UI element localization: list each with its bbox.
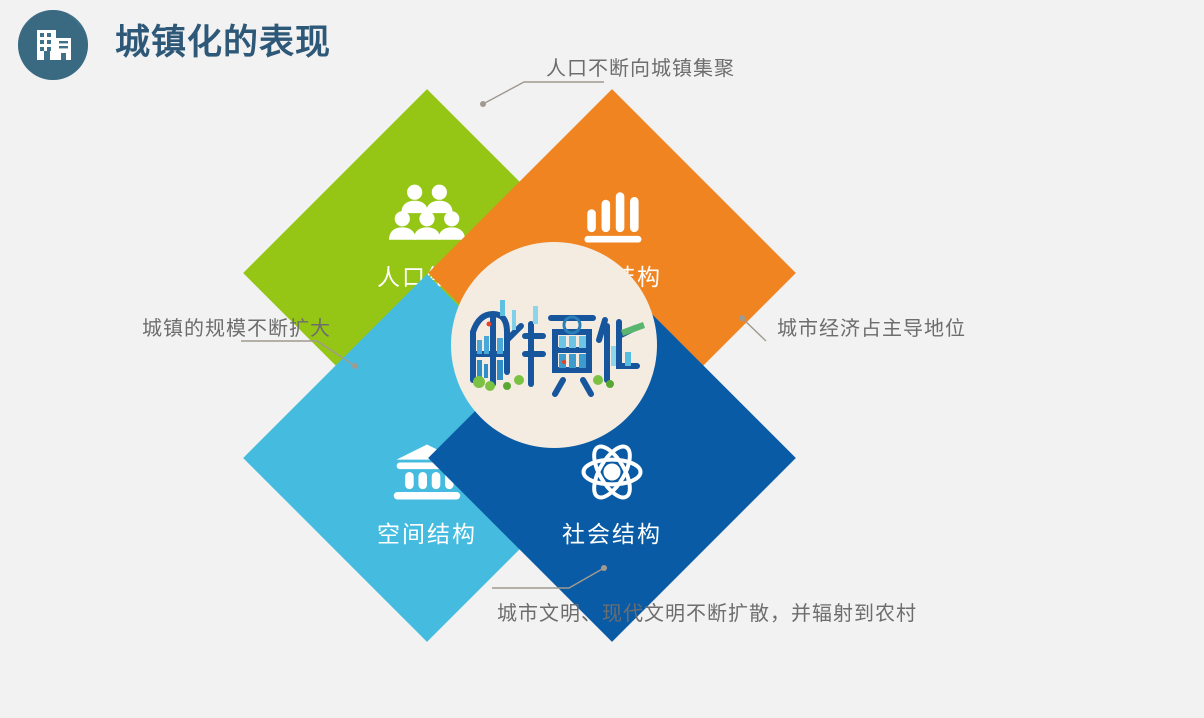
city-typography-art	[459, 280, 649, 410]
center-hub	[451, 242, 657, 448]
slide-canvas: 城镇化的表现	[0, 0, 1204, 646]
